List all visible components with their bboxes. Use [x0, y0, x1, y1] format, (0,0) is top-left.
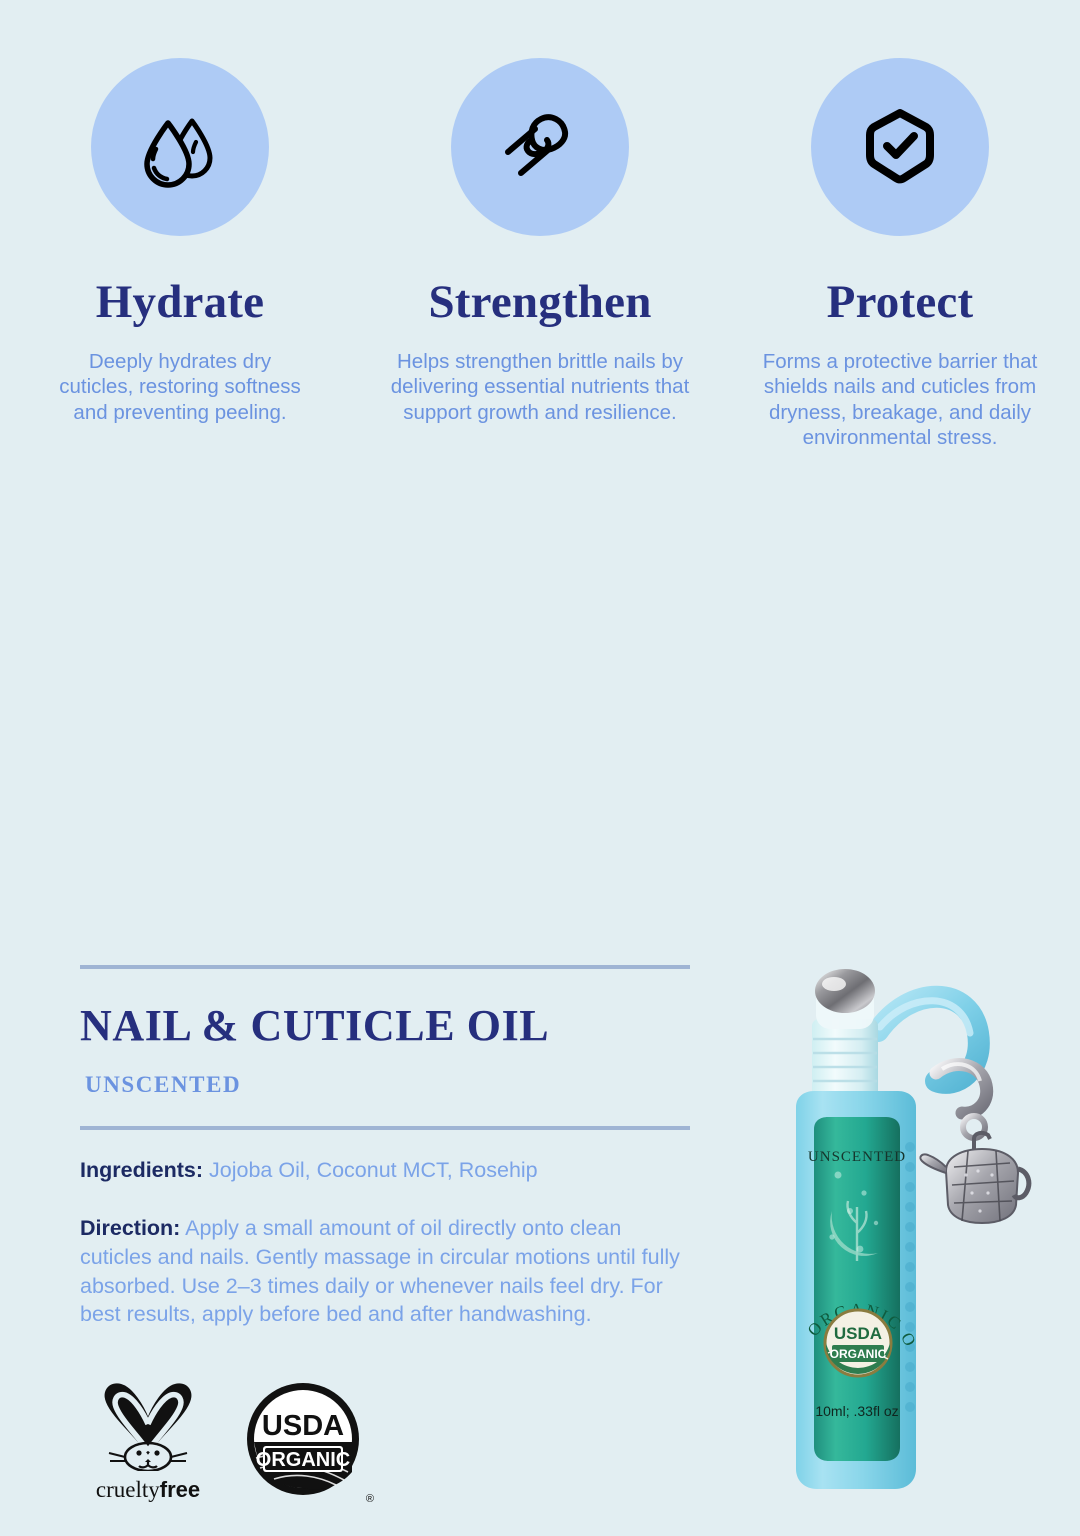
usda-text: USDA	[262, 1410, 344, 1442]
page-title: NAIL & CUTICLE OIL	[80, 1003, 692, 1049]
ingredients-value: Jojoba Oil, Coconut MCT, Rosehip	[203, 1158, 538, 1182]
benefit-title: Protect	[827, 279, 974, 326]
shield-check-icon	[854, 101, 946, 193]
cruelty-word: cruelty	[96, 1477, 160, 1502]
benefit-description: Helps strengthen brittle nails by delive…	[360, 349, 720, 425]
product-photo: UNSCENTED ALL ORGANIC OILS USDA ORGANIC	[760, 961, 1080, 1531]
benefits-row: Hydrate Deeply hydrates dry cuticles, re…	[0, 0, 1080, 451]
usda-organic-seal-icon: USDA ORGANIC	[244, 1380, 362, 1498]
certification-logos: crueltyfree USDA ORGANIC ®	[78, 1379, 366, 1503]
bottle-volume: 10ml; .33fl oz	[815, 1403, 898, 1419]
benefit-card-hydrate: Hydrate Deeply hydrates dry cuticles, re…	[0, 0, 360, 451]
bottle-scent-label: UNSCENTED	[808, 1149, 906, 1165]
benefit-description: Forms a protective barrier that shields …	[720, 349, 1080, 451]
organic-text: ORGANIC	[256, 1449, 350, 1471]
bottle-seal-usda: USDA	[834, 1324, 882, 1343]
ingredients-paragraph: Ingredients: Jojoba Oil, Coconut MCT, Ro…	[80, 1156, 692, 1185]
benefit-title: Hydrate	[96, 279, 264, 326]
usda-organic-logo: USDA ORGANIC ®	[244, 1380, 366, 1503]
cruelty-free-bunny-icon	[85, 1379, 211, 1471]
benefit-icon-badge	[91, 58, 269, 236]
bottle-seal-organic: ORGANIC	[830, 1347, 887, 1361]
rollerball	[815, 969, 875, 1013]
free-word: free	[160, 1477, 200, 1502]
benefit-icon-badge	[451, 58, 629, 236]
benefit-card-strengthen: Strengthen Helps strengthen brittle nail…	[360, 0, 720, 451]
cruelty-free-label: crueltyfree	[78, 1477, 218, 1503]
teapot-charm	[920, 1133, 1028, 1223]
benefit-card-protect: Protect Forms a protective barrier that …	[720, 0, 1080, 451]
direction-label: Direction:	[80, 1216, 180, 1240]
water-drops-icon	[134, 101, 226, 193]
cruelty-free-logo: crueltyfree	[78, 1379, 218, 1503]
product-info: NAIL & CUTICLE OIL UNSCENTED Ingredients…	[80, 965, 692, 1329]
direction-paragraph: Direction: Apply a small amount of oil d…	[80, 1214, 692, 1328]
product-scent: UNSCENTED	[85, 1072, 692, 1098]
fingernail-icon	[494, 101, 586, 193]
benefit-title: Strengthen	[428, 279, 651, 326]
benefit-description: Deeply hydrates dry cuticles, restoring …	[0, 349, 360, 425]
benefit-icon-badge	[811, 58, 989, 236]
registered-mark: ®	[366, 1493, 374, 1505]
ingredients-label: Ingredients:	[80, 1158, 203, 1182]
bottle-usda-seal: USDA ORGANIC	[825, 1310, 891, 1376]
bottle-neck	[812, 1019, 878, 1103]
divider-bottom	[80, 1126, 690, 1130]
divider-top	[80, 965, 690, 969]
